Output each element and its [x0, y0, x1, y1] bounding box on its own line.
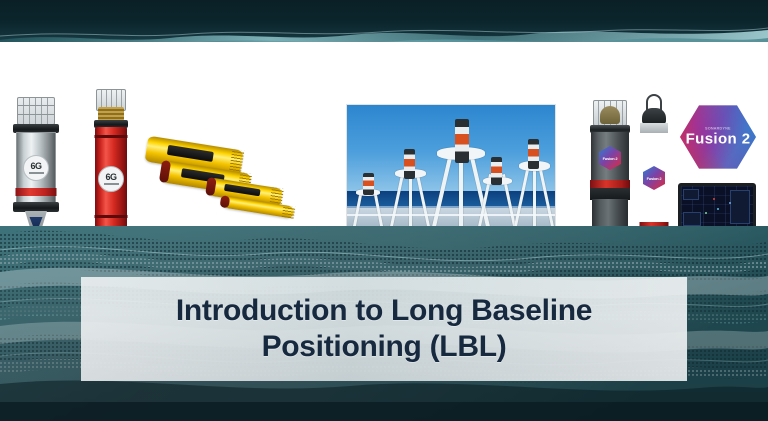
transponder-body: Fusion 2 [591, 132, 629, 184]
fusion2-badge-icon: Fusion 2 [599, 146, 621, 170]
page-title-line-2: Positioning (LBL) [176, 329, 592, 365]
transponder-frame [511, 139, 556, 231]
6g-logo: 6G [23, 155, 49, 181]
slide-title-panel: Introduction to Long Baseline Positionin… [81, 277, 687, 381]
photo-deck-railing [347, 214, 555, 216]
page-title: Introduction to Long Baseline Positionin… [162, 293, 606, 365]
fusion2-badge-icon: Fusion 2 [643, 166, 665, 190]
screen-panel-right [730, 190, 750, 224]
transponder-cage-icon [17, 97, 55, 125]
screen-target-marker [729, 202, 731, 204]
transponder-red-band [16, 188, 57, 196]
transponder-ring [95, 135, 128, 138]
transponder-body: Fusion 2 [640, 132, 668, 224]
page-title-line-1: Introduction to Long Baseline [176, 293, 592, 329]
monitor-screen [681, 186, 753, 227]
screen-panel-bottom-left [683, 212, 701, 226]
product-6g-compatt-transponder: 6G [10, 97, 62, 247]
transponder-cap [642, 108, 666, 124]
lbl-transponder-frames-photo [346, 104, 556, 232]
top-wave-graphic [0, 22, 768, 44]
transponder-ring [95, 215, 128, 218]
transponder-frame [351, 173, 385, 231]
monitor-bezel [678, 183, 756, 230]
transponder-gold-stack [98, 107, 124, 121]
fusion2-brand-main: Fusion 2 [680, 132, 756, 148]
transponder-dome [600, 106, 620, 124]
6g-logo: 6G [98, 166, 124, 192]
slide-root: 6G 6G [0, 0, 768, 421]
product-strip: 6G 6G [0, 42, 768, 226]
screen-target-marker [717, 208, 719, 210]
screen-panel-top-left [683, 189, 699, 200]
screen-target-marker [705, 212, 707, 214]
fusion2-logo: SONARDYNE Fusion 2 [680, 104, 756, 170]
transponder-collar-lower [13, 202, 59, 212]
transponder-frame [387, 147, 433, 231]
product-yellow-transponder-family [146, 137, 316, 237]
screen-target-marker [713, 198, 715, 200]
top-banner [0, 0, 768, 44]
